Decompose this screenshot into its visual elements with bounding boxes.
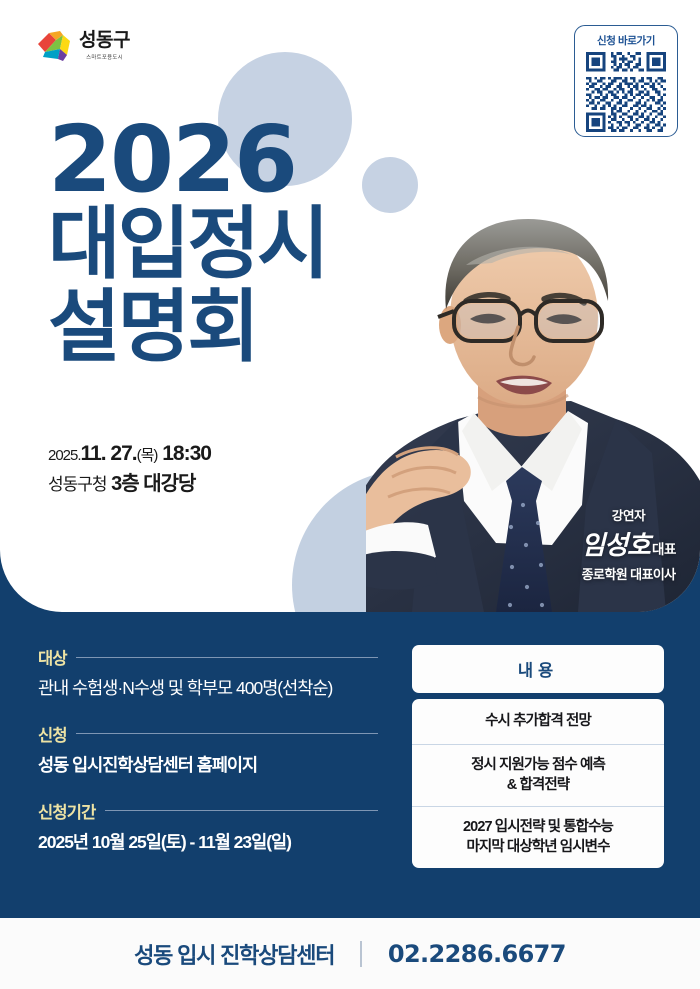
info-section: 대상 관내 수험생·N수생 및 학부모 400명(선착순) 신청 성동 입시진학…	[0, 612, 700, 918]
footer-phone[interactable]: 02.2286.6677	[388, 940, 566, 968]
qr-code-icon[interactable]	[586, 52, 666, 132]
logo-tagline: 스마트포용도시	[86, 53, 123, 61]
field-label: 대상	[38, 645, 67, 669]
sungdong-gu-logo: 성동구 스마트포용도시	[36, 30, 130, 62]
headline-line-1: 대입정시	[48, 203, 327, 286]
event-venue: 성동구청 3층 대강당	[48, 471, 211, 497]
speaker-name-row: 임성호 대표	[581, 525, 676, 562]
info-field-apply: 신청 성동 입시진학상담센터 홈페이지	[38, 722, 378, 777]
sungdong-gu-logo-icon	[36, 30, 72, 62]
poster-root: 성동구 스마트포용도시 신청 바로가기	[0, 0, 700, 989]
footer-divider	[360, 941, 362, 967]
field-head: 신청기간	[38, 799, 378, 823]
qr-label: 신청 바로가기	[597, 33, 655, 48]
headline-block: 2026 대입정시 설명회	[48, 118, 327, 369]
field-value: 관내 수험생·N수생 및 학부모 400명(선착순)	[38, 678, 378, 700]
field-rule	[76, 733, 378, 734]
speaker-title: 대표	[652, 538, 676, 558]
field-rule	[76, 657, 378, 658]
speaker-name: 임성호	[581, 525, 650, 562]
event-time: 18:30	[162, 442, 211, 465]
venue-prefix: 성동구청	[48, 475, 107, 494]
logo-district-name: 성동구	[79, 31, 130, 50]
event-datetime: 2025.11. 27.(목) 18:30	[48, 440, 211, 467]
info-field-target: 대상 관내 수험생·N수생 및 학부모 400명(선착순)	[38, 645, 378, 700]
event-meta: 2025.11. 27.(목) 18:30 성동구청 3층 대강당	[48, 440, 211, 497]
content-table: 내용 수시 추가합격 전망 정시 지원가능 점수 예측& 합격전략 2027 입…	[412, 645, 664, 868]
field-head: 대상	[38, 645, 378, 669]
speaker-role: 강연자	[581, 505, 676, 524]
speaker-caption: 강연자 임성호 대표 종로학원 대표이사	[581, 505, 676, 583]
content-table-body: 수시 추가합격 전망 정시 지원가능 점수 예측& 합격전략 2027 입시전략…	[412, 699, 664, 868]
event-date-weekday: (목)	[137, 447, 158, 464]
qr-apply-box[interactable]: 신청 바로가기	[574, 25, 678, 137]
speaker-organization: 종로학원 대표이사	[581, 564, 676, 583]
event-date-monthday: 11. 27.	[81, 442, 137, 465]
footer-center-name: 성동 입시 진학상담센터	[134, 938, 334, 970]
headline-line-2: 설명회	[48, 286, 327, 369]
event-date-year: 2025.	[48, 447, 81, 464]
field-value: 2025년 10월 25일(토) - 11월 23일(일)	[38, 832, 378, 854]
field-head: 신청	[38, 722, 378, 746]
info-field-period: 신청기간 2025년 10월 25일(토) - 11월 23일(일)	[38, 799, 378, 854]
field-value: 성동 입시진학상담센터 홈페이지	[38, 755, 378, 777]
field-label: 신청기간	[38, 799, 96, 823]
field-label: 신청	[38, 722, 67, 746]
content-row: 수시 추가합격 전망	[412, 699, 664, 745]
info-fields: 대상 관내 수험생·N수생 및 학부모 400명(선착순) 신청 성동 입시진학…	[38, 645, 378, 876]
field-rule	[105, 810, 378, 811]
venue-main: 3층 대강당	[111, 473, 195, 495]
headline-year: 2026	[48, 118, 327, 203]
content-table-header: 내용	[412, 645, 664, 693]
content-row: 정시 지원가능 점수 예측& 합격전략	[412, 745, 664, 807]
content-row: 2027 입시전략 및 통합수능마지막 대상학년 임시변수	[412, 807, 664, 868]
footer-bar: 성동 입시 진학상담센터 02.2286.6677	[0, 918, 700, 989]
hero-card: 성동구 스마트포용도시 신청 바로가기	[0, 0, 700, 612]
